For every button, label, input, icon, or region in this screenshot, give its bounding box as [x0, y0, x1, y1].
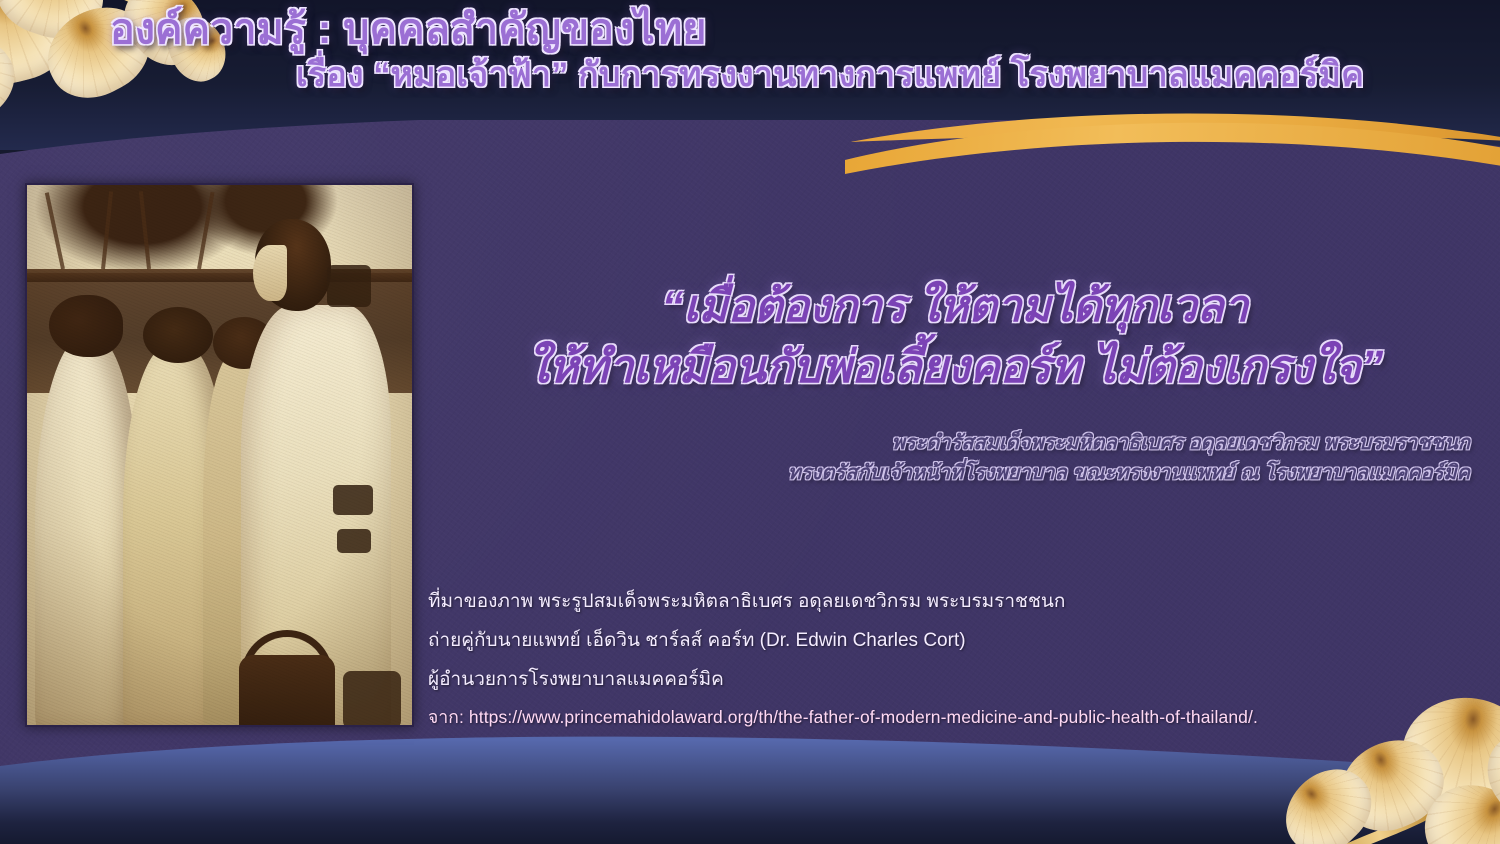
photo-vignette	[27, 185, 412, 725]
photo-source-credits: ที่มาของภาพ พระรูปสมเด็จพระมหิตลาธิเบศร …	[428, 592, 1488, 727]
title-line-1: องค์ความรู้ : บุคคลสำคัญของไทย	[0, 6, 1500, 53]
quote-line-2: ให้ทำเหมือนกับพ่อเลี้ยงคอร์ท ไม่ต้องเกรง…	[430, 337, 1480, 397]
photo-image	[27, 185, 412, 725]
source-line-2: ถ่ายคู่กับนายแพทย์ เอ็ดวิน ชาร์ลส์ คอร์ท…	[428, 631, 1488, 650]
quote-attribution: พระดำรัสสมเด็จพระมหิตลาธิเบศร อดุลยเดชวิ…	[420, 428, 1480, 489]
source-line-1: ที่มาของภาพ พระรูปสมเด็จพระมหิตลาธิเบศร …	[428, 592, 1488, 611]
attribution-line-1: พระดำรัสสมเด็จพระมหิตลาธิเบศร อดุลยเดชวิ…	[420, 428, 1470, 458]
attribution-line-2: ทรงตรัสกับเจ้าหน้าที่โรงพยาบาล ขณะทรงงาน…	[420, 458, 1470, 488]
slide-canvas: องค์ความรู้ : บุคคลสำคัญของไทย เรื่อง “ห…	[0, 0, 1500, 844]
slide-title: องค์ความรู้ : บุคคลสำคัญของไทย เรื่อง “ห…	[0, 6, 1500, 96]
title-line-2: เรื่อง “หมอเจ้าฟ้า” กับการทรงงานทางการแพ…	[0, 55, 1500, 96]
source-line-3: ผู้อำนวยการโรงพยาบาลแมคคอร์มิค	[428, 670, 1488, 689]
quote-text: “เมื่อต้องการ ให้ตามได้ทุกเวลา ให้ทำเหมื…	[430, 278, 1480, 396]
historical-photo	[25, 183, 414, 727]
source-url[interactable]: จาก: https://www.princemahidolaward.org/…	[428, 709, 1488, 727]
quote-line-1: “เมื่อต้องการ ให้ตามได้ทุกเวลา	[430, 278, 1480, 337]
